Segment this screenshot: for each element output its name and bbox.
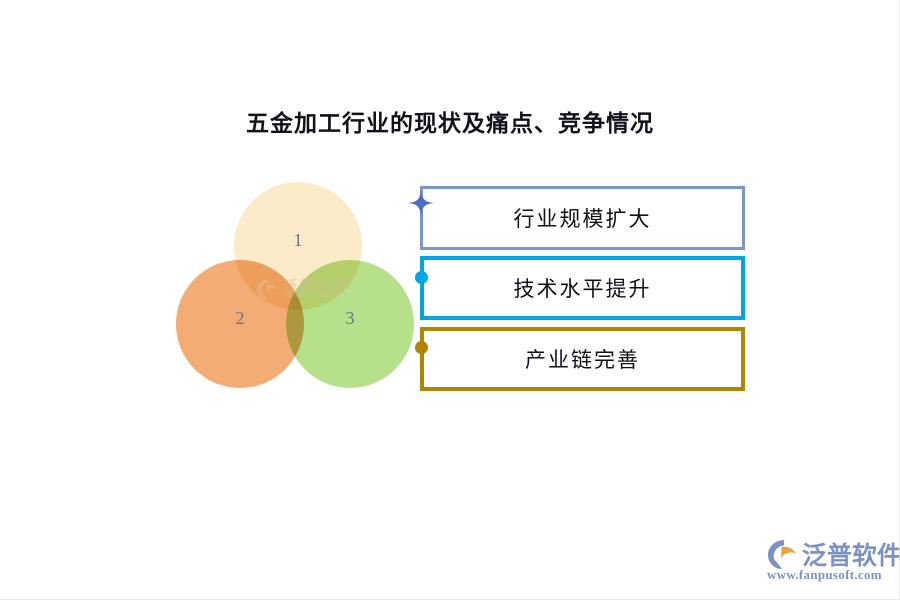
callout-box-3[interactable]: 产业链完善 — [420, 327, 745, 391]
venn-diagram: 1 2 3 — [176, 182, 420, 388]
callout-box-2-label: 技术水平提升 — [514, 273, 652, 303]
brand-url: www.fanpusoft.com — [767, 567, 882, 583]
venn-circle-2-number: 2 — [176, 309, 304, 327]
venn-circle-3[interactable]: 3 — [286, 260, 414, 388]
page-title: 五金加工行业的现状及痛点、竞争情况 — [0, 104, 900, 138]
venn-circle-2[interactable]: 2 — [176, 260, 304, 388]
callout-box-1-label: 行业规模扩大 — [514, 203, 652, 233]
callout-box-3-label: 产业链完善 — [525, 344, 640, 374]
venn-circle-1-number: 1 — [234, 231, 362, 249]
venn-circle-3-number: 3 — [286, 309, 414, 327]
brand-logo: 泛普软件 www.fanpusoft.com — [766, 538, 890, 586]
slide-canvas: 五金加工行业的现状及痛点、竞争情况 1 2 3 泛普软件 FANPU SOFTW… — [0, 0, 900, 600]
callout-box-1[interactable]: 行业规模扩大 — [420, 186, 745, 250]
fanpu-brand-icon — [766, 538, 800, 570]
callout-box-2[interactable]: 技术水平提升 — [420, 256, 745, 320]
